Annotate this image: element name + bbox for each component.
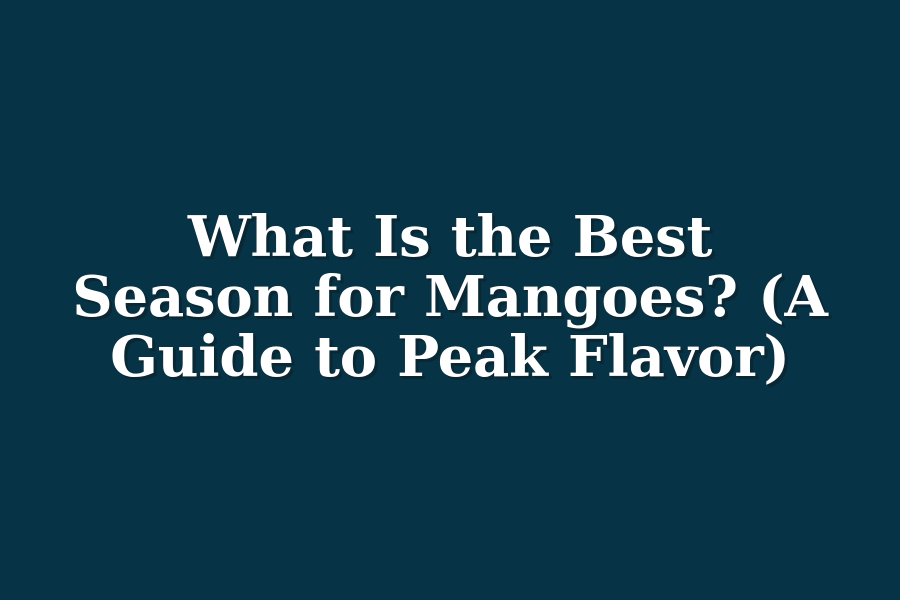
hero-title-block: What Is the Best Season for Mangoes? (A … [70,207,830,387]
page-title: What Is the Best Season for Mangoes? (A … [70,207,830,387]
hero-card: What Is the Best Season for Mangoes? (A … [0,0,900,600]
